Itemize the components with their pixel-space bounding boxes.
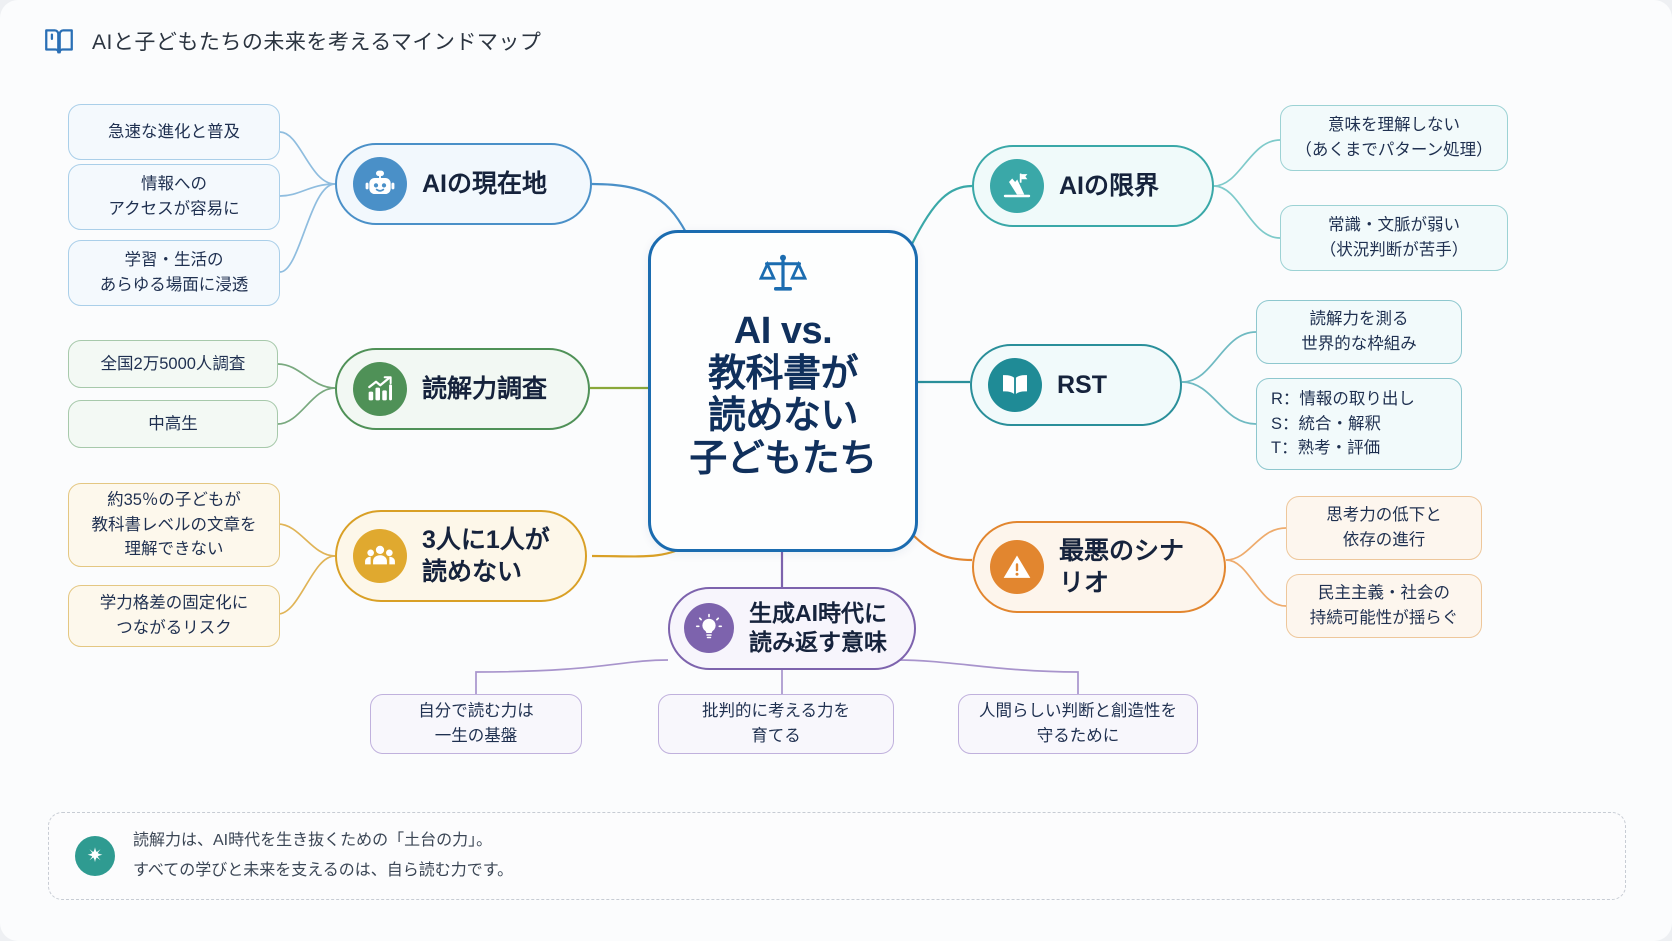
leaf-node[interactable]: 民主主義・社会の 持続可能性が揺らぐ: [1286, 574, 1482, 638]
branch-label: 3人に1人が 読めない: [422, 524, 550, 588]
leaf-text: 民主主義・社会の 持続可能性が揺らぐ: [1310, 581, 1459, 631]
leaf-node[interactable]: 常識・文脈が弱い （状況判断が苦手）: [1280, 205, 1508, 271]
branch-label: 最悪のシナリオ: [1059, 535, 1194, 599]
leaf-text: 学習・生活の あらゆる場面に浸透: [100, 248, 249, 298]
branch-ai-genzaichi[interactable]: AIの現在地: [335, 143, 592, 225]
leaf-node[interactable]: R：情報の取り出し S：統合・解釈 T：熟考・評価: [1256, 378, 1462, 470]
leaf-node[interactable]: 自分で読む力は 一生の基盤: [370, 694, 582, 754]
page-header: AIと子どもたちの未来を考えるマインドマップ: [42, 24, 541, 58]
page-title: AIと子どもたちの未来を考えるマインドマップ: [92, 26, 541, 56]
leaf-text: 中高生: [148, 412, 198, 437]
leaf-node[interactable]: 思考力の低下と 依存の進行: [1286, 496, 1482, 560]
robot-icon: [353, 157, 407, 211]
leaf-text: 思考力の低下と 依存の進行: [1326, 503, 1442, 553]
leaf-node[interactable]: 批判的に考える力を 育てる: [658, 694, 894, 754]
leaf-node[interactable]: 約35％の子どもが 教科書レベルの文章を 理解できない: [68, 483, 280, 567]
warning-triangle-icon: [990, 540, 1044, 594]
leaf-text: 急速な進化と普及: [108, 120, 240, 145]
lightbulb-icon: [684, 603, 734, 653]
people-group-icon: [353, 529, 407, 583]
leaf-node[interactable]: 中高生: [68, 400, 278, 448]
leaf-node[interactable]: 急速な進化と普及: [68, 104, 280, 160]
book-icon: [42, 24, 76, 58]
leaf-text: 約35％の子どもが 教科書レベルの文章を 理解できない: [92, 488, 257, 562]
leaf-text: 読解力を測る 世界的な枠組み: [1301, 307, 1417, 357]
branch-seisei-ai-jidai[interactable]: 生成AI時代に 読み返す意味: [668, 587, 916, 670]
branch-rst[interactable]: RST: [970, 344, 1182, 426]
leaf-node[interactable]: 学習・生活の あらゆる場面に浸透: [68, 240, 280, 306]
branch-label: AIの現在地: [422, 168, 547, 200]
branch-label: 生成AI時代に 読み返す意味: [749, 599, 887, 658]
branch-sannin-ni-hitori[interactable]: 3人に1人が 読めない: [335, 510, 587, 602]
leaf-node[interactable]: 学力格差の固定化に つながるリスク: [68, 585, 280, 647]
footer-text: 読解力は、AI時代を生き抜くための「土台の力」。 すべての学びと未来を支えるのは…: [133, 826, 513, 885]
mountain-flag-icon: [990, 159, 1044, 213]
footer-line-1: 読解力は、AI時代を生き抜くための「土台の力」。: [133, 826, 513, 856]
bar-chart-growth-icon: [353, 362, 407, 416]
leaf-text: 情報への アクセスが容易に: [108, 172, 239, 222]
leaf-node[interactable]: 人間らしい判断と創造性を 守るために: [958, 694, 1198, 754]
leaf-node[interactable]: 全国2万5000人調査: [68, 340, 278, 388]
branch-ai-genkai[interactable]: AIの限界: [972, 145, 1214, 227]
leaf-text: R：情報の取り出し S：統合・解釈 T：熟考・評価: [1271, 387, 1415, 461]
leaf-node[interactable]: 情報への アクセスが容易に: [68, 164, 280, 230]
leaf-text: 批判的に考える力を 育てる: [702, 699, 850, 749]
sparkle-icon: [75, 836, 115, 876]
branch-label: RST: [1057, 369, 1107, 401]
mindmap-canvas: AIと子どもたちの未来を考えるマインドマップ AI vs. 教科書が 読めない …: [0, 0, 1672, 941]
branch-dokkairyoku-chosa[interactable]: 読解力調査: [335, 348, 590, 430]
branch-label: 読解力調査: [422, 373, 547, 405]
leaf-text: 常識・文脈が弱い （状況判断が苦手）: [1320, 213, 1469, 263]
open-book-icon: [988, 358, 1042, 412]
branch-label: AIの限界: [1059, 170, 1159, 202]
leaf-text: 学力格差の固定化に つながるリスク: [100, 591, 249, 641]
leaf-text: 意味を理解しない （あくまでパターン処理）: [1295, 113, 1492, 163]
scales-balance-icon: [759, 251, 807, 304]
leaf-text: 人間らしい判断と創造性を 守るために: [979, 699, 1177, 749]
central-node[interactable]: AI vs. 教科書が 読めない 子どもたち: [648, 230, 918, 552]
central-node-title: AI vs. 教科書が 読めない 子どもたち: [689, 310, 877, 480]
footer-line-2: すべての学びと未来を支えるのは、自ら読む力です。: [133, 856, 513, 886]
footer-note: 読解力は、AI時代を生き抜くための「土台の力」。 すべての学びと未来を支えるのは…: [48, 812, 1626, 900]
branch-saiaku-no-scenario[interactable]: 最悪のシナリオ: [972, 521, 1226, 613]
leaf-text: 全国2万5000人調査: [101, 352, 246, 377]
leaf-node[interactable]: 意味を理解しない （あくまでパターン処理）: [1280, 105, 1508, 171]
leaf-node[interactable]: 読解力を測る 世界的な枠組み: [1256, 300, 1462, 364]
leaf-text: 自分で読む力は 一生の基盤: [418, 699, 534, 749]
